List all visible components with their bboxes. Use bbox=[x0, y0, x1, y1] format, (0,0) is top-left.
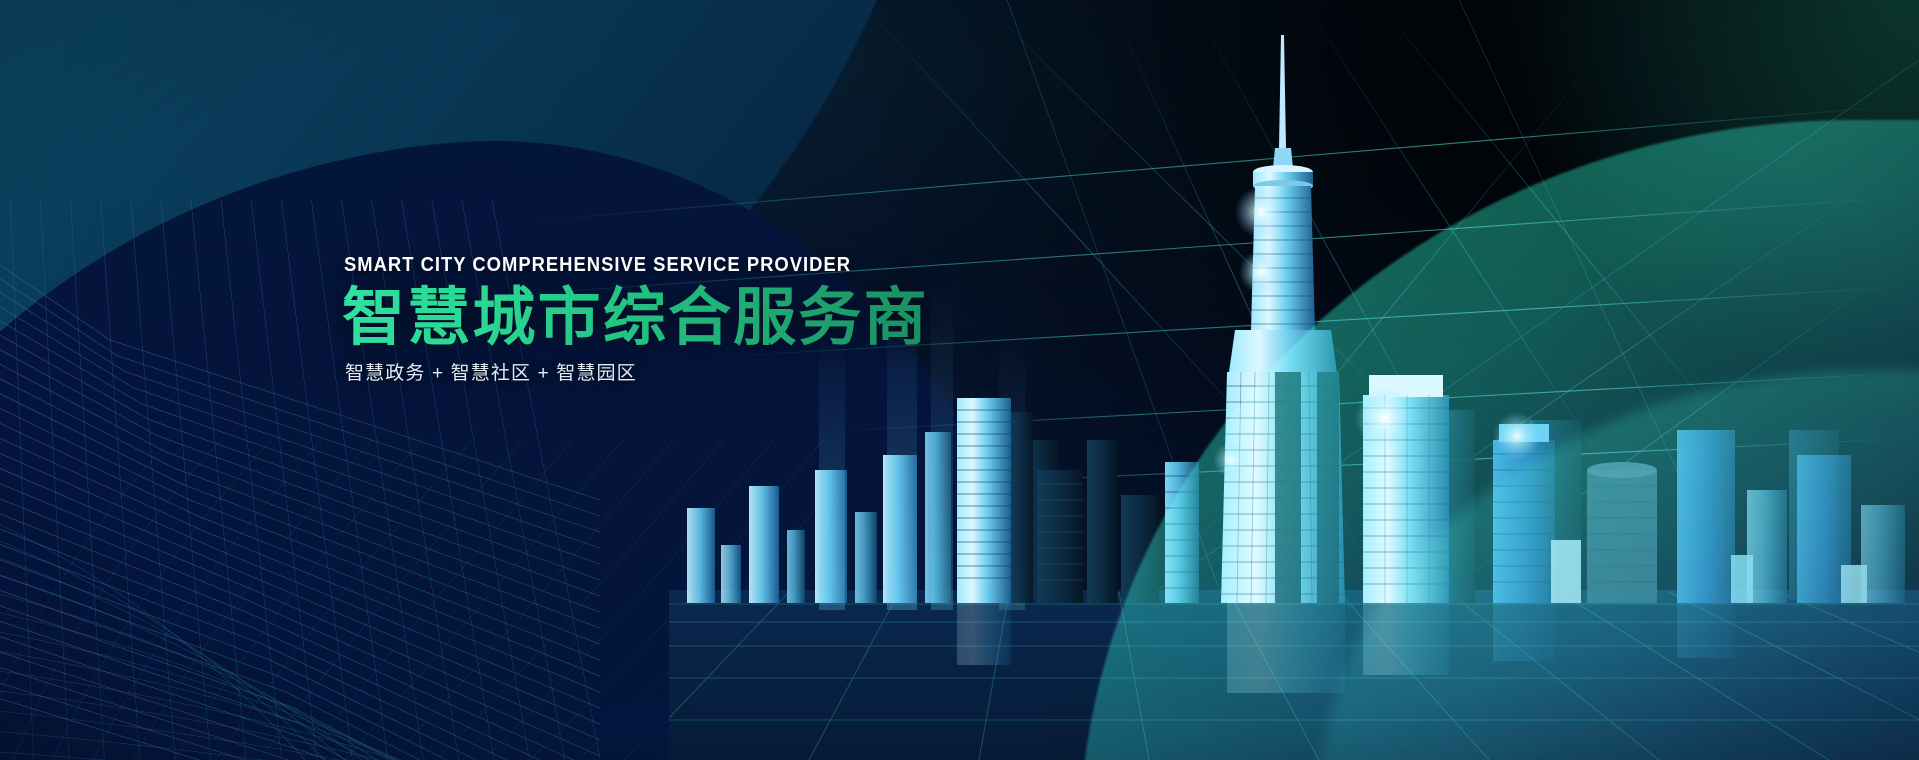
hero-eyebrow: SMART CITY COMPREHENSIVE SERVICE PROVIDE… bbox=[344, 255, 882, 275]
hero-subline: 智慧政务 + 智慧社区 + 智慧园区 bbox=[345, 364, 929, 383]
hero-headline: 智慧城市综合服务商 bbox=[342, 283, 929, 354]
smart-city-hero-banner: SMART CITY COMPREHENSIVE SERVICE PROVIDE… bbox=[0, 0, 1919, 760]
hero-copy-block: SMART CITY COMPREHENSIVE SERVICE PROVIDE… bbox=[342, 255, 929, 383]
